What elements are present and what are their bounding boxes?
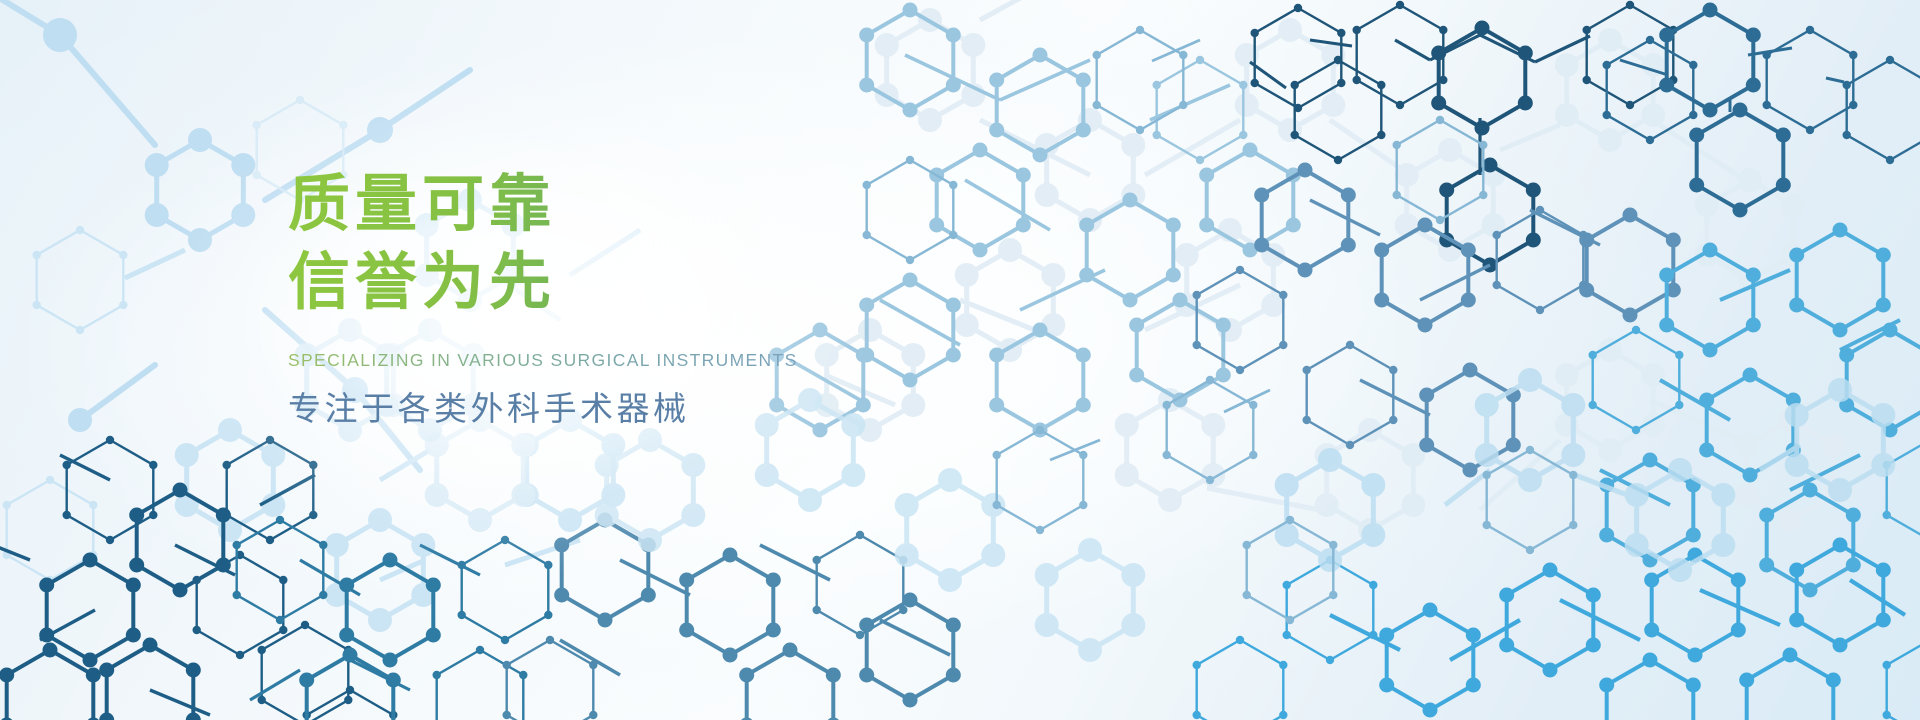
hero-text-block: 质量可靠 信誉为先 SPECIALIZING IN VARIOUS SURGIC… [288, 168, 798, 430]
molecule-cluster-dark-bottomleft [0, 436, 398, 720]
headline-line-2: 信誉为先 [288, 246, 798, 320]
molecule-cluster-mid-bottomleft [233, 516, 553, 720]
headline-line-1: 质量可靠 [288, 168, 798, 242]
molecule-cluster-bottomright-pale [1275, 368, 1896, 582]
hero-banner: 质量可靠 信誉为先 SPECIALIZING IN VARIOUS SURGIC… [0, 0, 1920, 720]
subtitle-english: SPECIALIZING IN VARIOUS SURGICAL INSTRUM… [288, 350, 798, 371]
subtitle-chinese: 专注于各类外科手术器械 [288, 382, 798, 430]
molecule-cluster-bright-bottomright [1193, 538, 1920, 720]
molecule-cluster-bright-right [1589, 223, 1920, 598]
molecule-cluster-center-bottom [503, 513, 961, 720]
molecule-cluster-dark-topright-2 [1603, 3, 1920, 218]
molecule-cluster-upper-mid [769, 3, 1301, 438]
molecule-cluster-scattered-accents [863, 26, 1578, 624]
molecule-cluster-right-steel [1193, 163, 1681, 478]
molecule-cluster-ghost-center [815, 0, 1846, 542]
molecule-cluster-dark-topright [1250, 1, 1678, 273]
